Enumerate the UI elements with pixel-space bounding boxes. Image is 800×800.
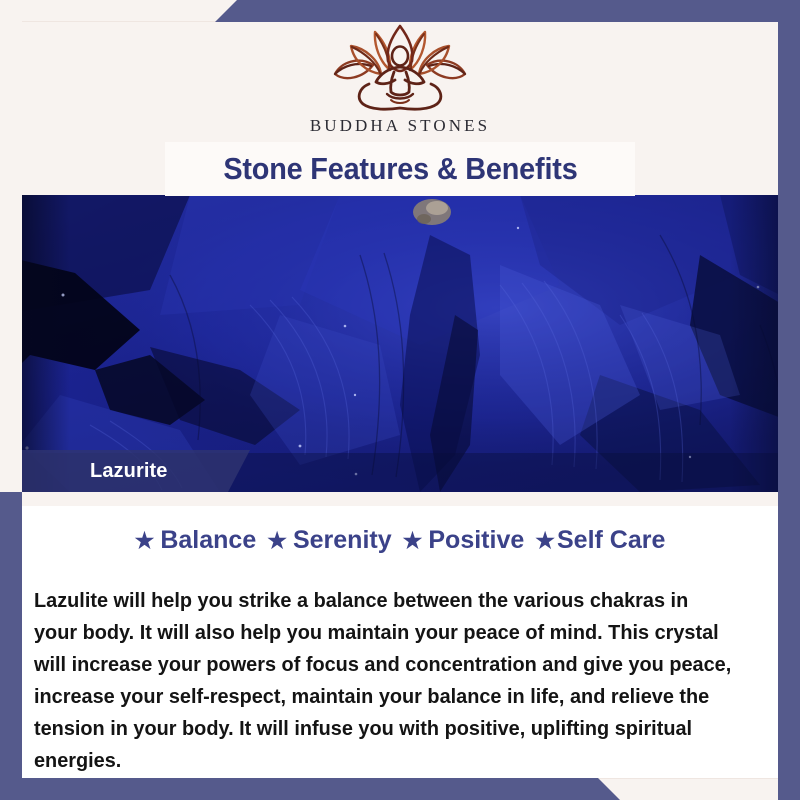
benefit-item-2: ★ Positive — [403, 526, 525, 555]
star-icon: ★ — [267, 530, 287, 552]
star-icon: ★ — [403, 530, 423, 552]
benefit-item-0: ★ Balance — [135, 526, 257, 555]
stone-name-tag: Lazurite — [22, 450, 250, 492]
benefit-label: Serenity — [293, 526, 392, 555]
brand-logo: BUDDHA STONES — [0, 22, 800, 136]
benefit-item-1: ★ Serenity — [267, 526, 391, 555]
benefit-label: Self Care — [557, 526, 665, 555]
star-icon: ★ — [535, 530, 555, 552]
star-icon: ★ — [135, 530, 155, 552]
benefits-row: ★ Balance ★ Serenity ★ Positive ★ Self C… — [22, 526, 778, 555]
frame-top-bar — [215, 0, 800, 22]
panel-top-strip — [22, 492, 778, 506]
brand-name: BUDDHA STONES — [0, 116, 800, 136]
benefit-label: Positive — [428, 526, 524, 555]
benefit-label: Balance — [160, 526, 256, 555]
lazurite-rock-illustration — [0, 195, 800, 492]
stone-description: Lazulite will help you strike a balance … — [34, 585, 734, 777]
title-banner: Stone Features & Benefits — [165, 142, 635, 196]
frame-left-notch — [0, 0, 22, 492]
benefit-item-3: ★ Self Care — [535, 526, 665, 555]
page-title: Stone Features & Benefits — [223, 151, 577, 187]
content-panel: ★ Balance ★ Serenity ★ Positive ★ Self C… — [22, 492, 778, 778]
stone-photo: Lazurite — [0, 195, 800, 492]
frame-right-bar — [778, 0, 800, 800]
frame-bottom-bar — [0, 778, 620, 800]
stone-name: Lazurite — [22, 460, 167, 483]
lotus-meditating-figure-icon — [325, 22, 475, 112]
infographic-canvas: BUDDHA STONES Stone Features & Benefits — [0, 0, 800, 800]
